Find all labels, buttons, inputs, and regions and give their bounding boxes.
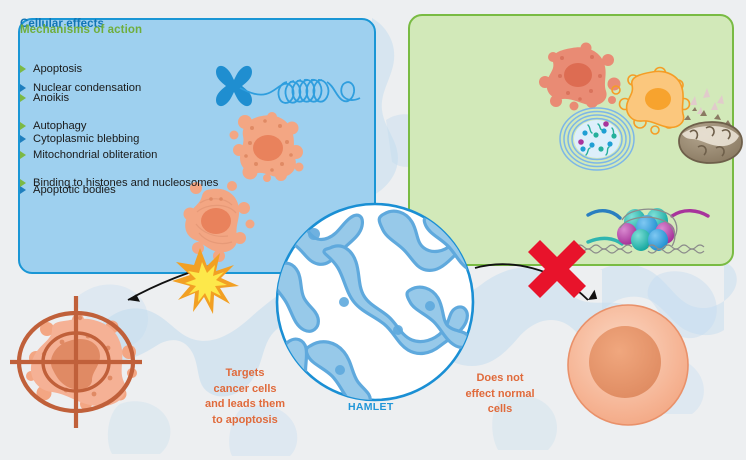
histone-spheres xyxy=(617,208,675,251)
blebbing-cell-icon xyxy=(230,112,304,182)
nucleosome-icon xyxy=(576,208,708,253)
apoptotic-cell-icon xyxy=(539,43,621,111)
normal-cell-icon xyxy=(568,305,688,425)
list-item-label: Binding to histones and nucleosomes xyxy=(33,177,218,189)
does-not-effect-normal-cells-caption: Does not effect normal cells xyxy=(455,371,545,418)
triangle-bullet-icon xyxy=(20,151,26,159)
list-item-mitochondrial-obliteration[interactable]: Mitochondrial obliteration xyxy=(20,141,218,170)
anoikis-cell-icon xyxy=(612,68,690,135)
damaged-mitochondrion-icon xyxy=(679,88,742,163)
hamlet-complex-icon xyxy=(269,204,483,408)
list-item-label: Autophagy xyxy=(33,120,87,132)
triangle-bullet-icon xyxy=(20,65,26,73)
dna-coil-icon xyxy=(240,80,360,103)
triangle-bullet-icon xyxy=(20,179,26,187)
mechanisms-of-action-list: Apoptosis Anoikis Autophagy Mitochondria… xyxy=(20,55,218,198)
list-item-label: Mitochondrial obliteration xyxy=(33,149,157,161)
targets-cancer-cells-caption: Targets cancer cells and leads them to a… xyxy=(196,366,294,428)
triangle-bullet-icon xyxy=(20,122,26,130)
mechanisms-of-action-title: Mechanisms of action xyxy=(20,24,142,36)
list-item-autophagy[interactable]: Autophagy xyxy=(20,112,218,141)
list-item-binding-to-histones[interactable]: Binding to histones and nucleosomes xyxy=(20,169,218,198)
autophagosome-icon xyxy=(560,108,634,170)
triangle-bullet-icon xyxy=(20,94,26,102)
hamlet-label: HAMLET xyxy=(348,401,394,413)
list-item-label: Apoptosis xyxy=(33,63,82,75)
list-item-apoptosis[interactable]: Apoptosis xyxy=(20,55,218,84)
chromosome-icon xyxy=(216,66,252,106)
crosshair-target-icon xyxy=(10,296,142,428)
figure-root: Cellular effects Nuclear condensation Cy… xyxy=(0,0,746,460)
list-item-label: Anoikis xyxy=(33,92,69,104)
list-item-anoikis[interactable]: Anoikis xyxy=(20,84,218,113)
starburst-icon xyxy=(172,248,239,314)
